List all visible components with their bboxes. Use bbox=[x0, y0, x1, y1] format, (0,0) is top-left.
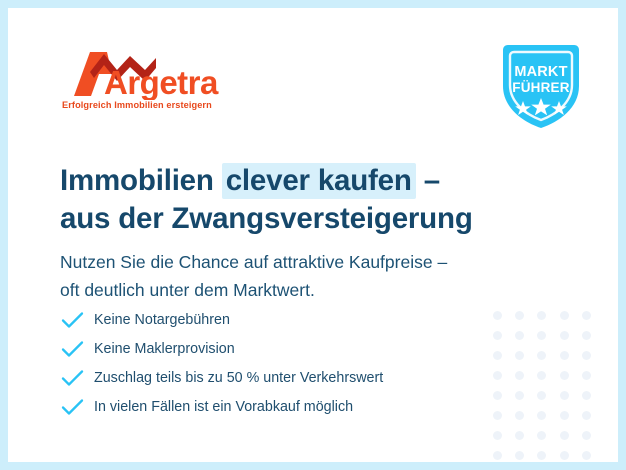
dot bbox=[560, 311, 569, 320]
dot bbox=[560, 351, 569, 360]
subtitle-line-1: Nutzen Sie die Chance auf attraktive Kau… bbox=[60, 248, 580, 276]
dot bbox=[560, 431, 569, 440]
badge-line-2: FÜHRER bbox=[495, 80, 587, 96]
dot bbox=[582, 451, 591, 460]
headline-highlight: clever kaufen bbox=[222, 163, 416, 199]
dot bbox=[537, 431, 546, 440]
list-item-label: In vielen Fällen ist ein Vorabkauf mögli… bbox=[94, 399, 353, 415]
dot bbox=[537, 391, 546, 400]
dot bbox=[515, 311, 524, 320]
list-item-label: Keine Maklerprovision bbox=[94, 341, 235, 357]
dot bbox=[493, 451, 502, 460]
badge-line-1: MARKT bbox=[514, 64, 567, 80]
check-icon bbox=[60, 369, 86, 387]
promo-banner: Argetra Erfolgreich Immobilien ersteiger… bbox=[0, 0, 626, 470]
dot bbox=[582, 311, 591, 320]
dot bbox=[582, 411, 591, 420]
check-icon bbox=[60, 340, 86, 358]
banner-card: Argetra Erfolgreich Immobilien ersteiger… bbox=[8, 8, 618, 462]
subtitle: Nutzen Sie die Chance auf attraktive Kau… bbox=[60, 248, 580, 304]
dot bbox=[493, 431, 502, 440]
dot bbox=[560, 451, 569, 460]
list-item: Keine Maklerprovision bbox=[60, 334, 510, 363]
list-item-label: Keine Notargebühren bbox=[94, 312, 230, 328]
logo-mark-row: Argetra bbox=[60, 50, 250, 100]
dot bbox=[515, 331, 524, 340]
dot bbox=[515, 451, 524, 460]
headline-line-2: aus der Zwangsversteigerung bbox=[60, 200, 560, 238]
dot bbox=[537, 311, 546, 320]
dot bbox=[582, 391, 591, 400]
headline-line-1: Immobilien clever kaufen – bbox=[60, 162, 560, 200]
three-stars-icon bbox=[512, 98, 570, 115]
dot bbox=[582, 351, 591, 360]
dot bbox=[582, 431, 591, 440]
dot bbox=[515, 371, 524, 380]
dot bbox=[582, 331, 591, 340]
dot bbox=[537, 331, 546, 340]
list-item: Keine Notargebühren bbox=[60, 305, 510, 334]
dot bbox=[560, 371, 569, 380]
dot bbox=[515, 391, 524, 400]
dot bbox=[537, 451, 546, 460]
logo-tagline: Erfolgreich Immobilien ersteigern bbox=[62, 100, 212, 110]
svg-text:Argetra: Argetra bbox=[104, 64, 219, 100]
market-leader-badge: MARKT FÜHRER bbox=[495, 38, 587, 133]
dot bbox=[515, 431, 524, 440]
argetra-a-arrow-icon: Argetra bbox=[60, 50, 250, 100]
headline-suffix: – bbox=[416, 164, 440, 197]
dot bbox=[537, 411, 546, 420]
dot bbox=[515, 351, 524, 360]
list-item-label: Zuschlag teils bis zu 50 % unter Verkehr… bbox=[94, 370, 383, 386]
badge-stars bbox=[495, 98, 587, 120]
list-item: Zuschlag teils bis zu 50 % unter Verkehr… bbox=[60, 363, 510, 392]
dot bbox=[560, 331, 569, 340]
list-item: In vielen Fällen ist ein Vorabkauf mögli… bbox=[60, 392, 510, 421]
dot bbox=[537, 351, 546, 360]
headline-prefix: Immobilien bbox=[60, 164, 222, 197]
argetra-logo[interactable]: Argetra Erfolgreich Immobilien ersteiger… bbox=[60, 50, 250, 116]
check-icon bbox=[60, 398, 86, 416]
check-icon bbox=[60, 311, 86, 329]
dot bbox=[560, 391, 569, 400]
benefits-list: Keine Notargebühren Keine Maklerprovisio… bbox=[60, 305, 510, 421]
dot bbox=[537, 371, 546, 380]
subtitle-line-2: oft deutlich unter dem Marktwert. bbox=[60, 276, 580, 304]
badge-text: MARKT FÜHRER bbox=[495, 64, 587, 96]
dot bbox=[560, 411, 569, 420]
dot bbox=[515, 411, 524, 420]
dot bbox=[582, 371, 591, 380]
page-title: Immobilien clever kaufen – aus der Zwang… bbox=[60, 162, 560, 238]
